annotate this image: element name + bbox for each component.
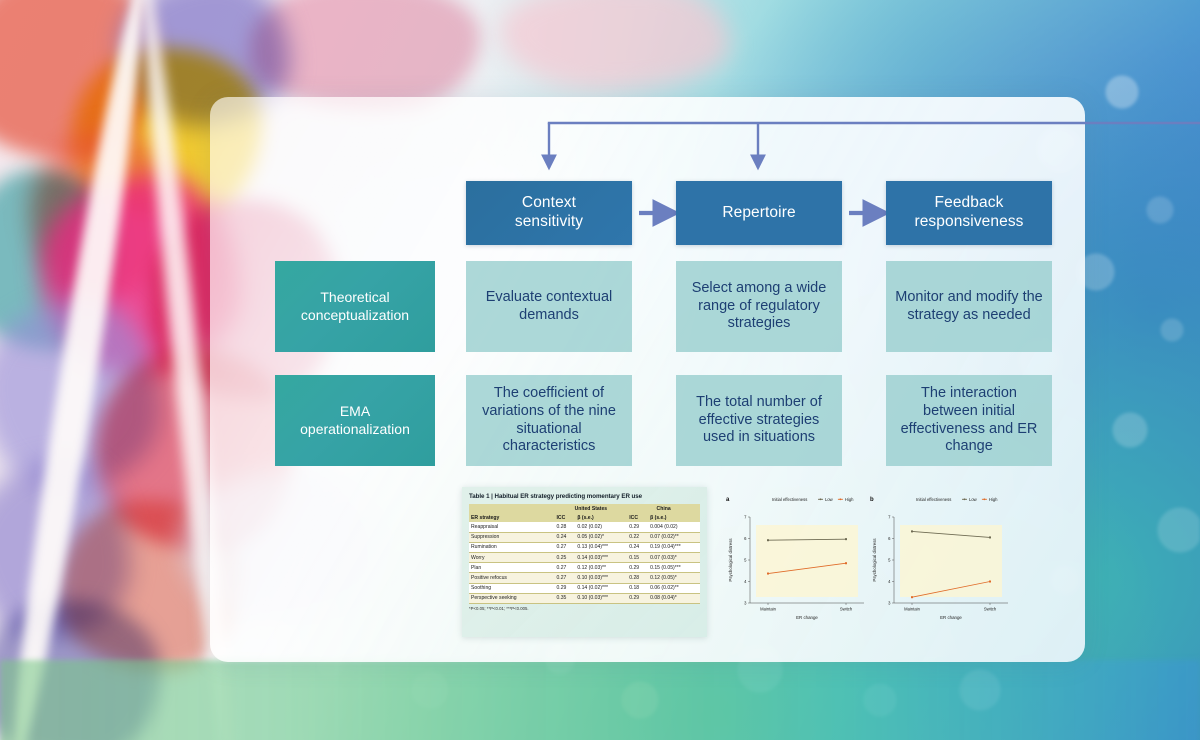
cell-text: Evaluate contextual demands [475,289,623,324]
y-tick-label: 6 [744,536,747,541]
figure-canvas: Context sensitivity Repertoire Feedback … [0,0,1200,740]
col-header-cn-icc: ICC [627,513,648,522]
legend-label: Low [825,497,834,502]
data-point [845,562,847,564]
cell-strategy: Positive refocus [469,573,554,583]
results-table: United States China ER strategy ICC β (s… [469,504,700,604]
y-tick-label: 5 [744,558,747,563]
cell-cn-icc: 0.29 [627,563,648,573]
x-tick-label: Switch [984,607,997,612]
cell-text: The coefficient of variations of the nin… [475,385,623,456]
plot-background [900,525,1002,597]
chart-b-svg: bInitial effectivenessLowHigh34567Mainta… [866,487,1016,637]
cell-us-beta: 0.12 (0.03)** [575,563,627,573]
node-repertoire[interactable]: Repertoire [676,181,842,245]
data-point [845,538,847,540]
cell-us-icc: 0.28 [554,522,575,532]
y-tick-label: 4 [744,579,747,584]
cell-strategy: Soothing [469,583,554,593]
cell-us-icc: 0.29 [554,583,575,593]
legend-title: Initial effectiveness [916,497,951,502]
col-header-us-beta: β (s.e.) [575,513,627,522]
y-tick-label: 3 [888,601,891,606]
cell-strategy: Perspective seeking [469,593,554,603]
cell-us-icc: 0.27 [554,573,575,583]
watercolor-blob [250,0,480,110]
data-point [767,539,769,541]
cell-cn-beta: 0.06 (0.02)** [648,583,700,593]
cell-us-beta: 0.10 (0.03)*** [575,573,627,583]
table-row: Positive refocus0.270.10 (0.03)***0.280.… [469,573,700,583]
cell-strategy: Reappraisal [469,522,554,532]
cell-cn-beta: 0.15 (0.05)*** [648,563,700,573]
cell-r2c3[interactable]: The interaction between initial effectiv… [886,375,1052,466]
cell-r2c1[interactable]: The coefficient of variations of the nin… [466,375,632,466]
col-header-cn-beta: β (s.e.) [648,513,700,522]
row-label-theoretical-conceptualization[interactable]: Theoretical conceptualization [275,261,435,352]
cell-cn-beta: 0.12 (0.05)* [648,573,700,583]
cell-cn-icc: 0.24 [627,542,648,552]
table-row: Suppression0.240.05 (0.02)*0.220.07 (0.0… [469,532,700,542]
table-row: Plan0.270.12 (0.03)**0.290.15 (0.05)*** [469,563,700,573]
cell-r2c2[interactable]: The total number of effective strategies… [676,375,842,466]
y-axis-label: Psychological distress [872,538,877,582]
table-title: Table 1 | Habitual ER strategy predictin… [469,493,700,500]
y-tick-label: 6 [888,536,891,541]
chart-panel-a: aInitial effectivenessLowHigh34567Mainta… [722,487,872,637]
cell-us-icc: 0.27 [554,542,575,552]
chart-a-svg: aInitial effectivenessLowHigh34567Mainta… [722,487,872,637]
cell-cn-beta: 0.07 (0.02)** [648,532,700,542]
cell-us-icc: 0.24 [554,532,575,542]
y-tick-label: 7 [888,515,891,520]
chart-panel-letter: a [726,497,730,503]
node-feedback-responsiveness[interactable]: Feedback responsiveness [886,181,1052,245]
chart-panel-letter: b [870,497,874,503]
y-tick-label: 7 [744,515,747,520]
table-head: United States China ER strategy ICC β (s… [469,504,700,522]
y-tick-label: 4 [888,579,891,584]
cell-strategy: Worry [469,552,554,562]
data-point [911,530,913,532]
table-column-header-row: ER strategy ICC β (s.e.) ICC β (s.e.) [469,513,700,522]
cell-us-beta: 0.14 (0.02)*** [575,583,627,593]
cell-text: Monitor and modify the strategy as neede… [895,289,1043,324]
cell-cn-icc: 0.28 [627,573,648,583]
cell-us-beta: 0.13 (0.04)*** [575,542,627,552]
table-row: Perspective seeking0.350.10 (0.03)***0.2… [469,593,700,603]
table-row: Rumination0.270.13 (0.04)***0.240.19 (0.… [469,542,700,552]
cell-cn-icc: 0.15 [627,552,648,562]
cell-cn-icc: 0.29 [627,522,648,532]
legend-marker [964,498,966,500]
table-row: Reappraisal0.280.02 (0.02)0.290.004 (0.0… [469,522,700,532]
cell-text: Select among a wide range of regulatory … [685,280,833,333]
data-point [989,581,991,583]
chart-panel-b: bInitial effectivenessLowHigh34567Mainta… [866,487,1016,637]
cell-cn-icc: 0.18 [627,583,648,593]
data-point [989,536,991,538]
table-card: Table 1 | Habitual ER strategy predictin… [462,487,707,637]
cell-r1c2[interactable]: Select among a wide range of regulatory … [676,261,842,352]
col-header-strategy: ER strategy [469,513,554,522]
cell-r1c3[interactable]: Monitor and modify the strategy as neede… [886,261,1052,352]
col-header-us-icc: ICC [554,513,575,522]
cell-cn-icc: 0.29 [627,593,648,603]
y-tick-label: 5 [888,558,891,563]
cell-us-beta: 0.02 (0.02) [575,522,627,532]
cell-strategy: Suppression [469,532,554,542]
node-label: Repertoire [722,204,795,223]
cell-us-icc: 0.35 [554,593,575,603]
row-label-ema-operationalization[interactable]: EMA operationalization [275,375,435,466]
legend-label: Low [969,497,978,502]
legend-label: High [845,497,854,502]
legend-marker [984,498,986,500]
legend-marker [840,498,842,500]
cell-cn-icc: 0.22 [627,532,648,542]
cell-text: The interaction between initial effectiv… [895,385,1043,456]
legend-title: Initial effectiveness [772,497,807,502]
cell-us-icc: 0.27 [554,563,575,573]
table-row: Worry0.250.14 (0.03)***0.150.07 (0.03)* [469,552,700,562]
cell-cn-beta: 0.07 (0.03)* [648,552,700,562]
legend-marker [820,498,822,500]
table-body: Reappraisal0.280.02 (0.02)0.290.004 (0.0… [469,522,700,603]
cell-cn-beta: 0.08 (0.04)* [648,593,700,603]
data-point [767,573,769,575]
group-header-us: United States [554,504,627,513]
cell-strategy: Rumination [469,542,554,552]
table-footnote: *P<0.05; **P<0.01; ***P<0.005. [469,606,700,611]
cell-us-beta: 0.10 (0.03)*** [575,593,627,603]
plot-background [756,525,858,597]
x-tick-label: Maintain [904,607,920,612]
cell-us-icc: 0.25 [554,552,575,562]
cell-r1c1[interactable]: Evaluate contextual demands [466,261,632,352]
row-label-text: Theoretical conceptualization [301,289,409,323]
x-tick-label: Maintain [760,607,776,612]
node-label: Context sensitivity [515,194,583,232]
group-header-cn: China [627,504,700,513]
bottom-green-wash [0,660,1200,740]
cell-cn-beta: 0.004 (0.02) [648,522,700,532]
x-axis-label: ER change [796,615,818,620]
y-axis-label: Psychological distress [728,538,733,582]
cell-us-beta: 0.14 (0.03)*** [575,552,627,562]
node-context-sensitivity[interactable]: Context sensitivity [466,181,632,245]
x-tick-label: Switch [840,607,853,612]
legend-label: High [989,497,998,502]
cell-strategy: Plan [469,563,554,573]
group-header-blank [469,504,554,513]
node-label: Feedback responsiveness [914,194,1023,232]
cell-text: The total number of effective strategies… [685,394,833,447]
x-axis-label: ER change [940,615,962,620]
row-label-text: EMA operationalization [300,403,410,437]
table-group-header-row: United States China [469,504,700,513]
cell-us-beta: 0.05 (0.02)* [575,532,627,542]
cell-cn-beta: 0.19 (0.04)*** [648,542,700,552]
data-point [911,596,913,598]
table-row: Soothing0.290.14 (0.02)***0.180.06 (0.02… [469,583,700,593]
y-tick-label: 3 [744,601,747,606]
